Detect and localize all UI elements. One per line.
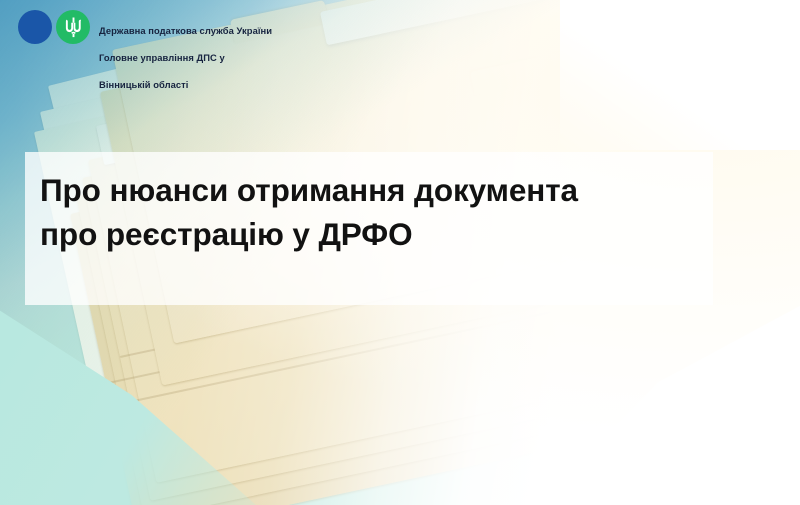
white-corner-top-field <box>560 0 800 150</box>
org-line-2: Головне управління ДПС у <box>99 51 272 64</box>
org-line-1: Державна податкова служба України <box>99 24 272 37</box>
banner-image: Державна податкова служба України Головн… <box>0 0 800 505</box>
logo-marks <box>18 10 90 44</box>
green-trident-icon <box>56 10 90 44</box>
logo-header: Державна податкова служба України Головн… <box>18 8 272 104</box>
headline-title: Про нюанси отримання документа про реєст… <box>40 168 680 256</box>
headline-line-1: Про нюанси отримання документа <box>40 168 680 212</box>
blue-circle-icon <box>18 10 52 44</box>
organization-name: Державна податкова служба України Головн… <box>99 11 272 104</box>
headline-line-2: про реєстрацію у ДРФО <box>40 212 680 256</box>
org-line-3: Вінницькій області <box>99 78 272 91</box>
